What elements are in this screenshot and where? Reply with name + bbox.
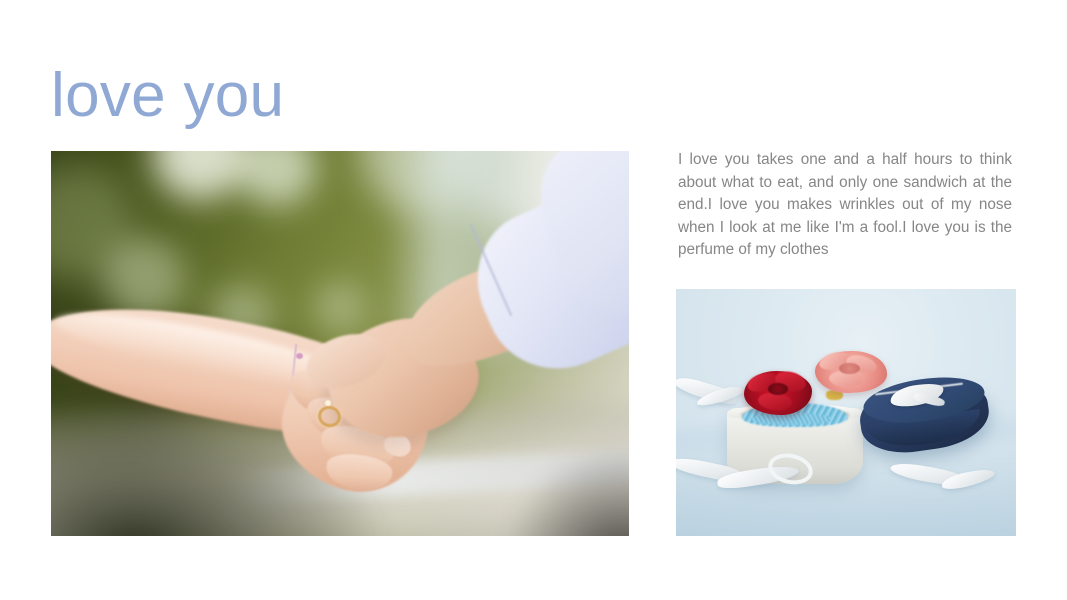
hands-photo-stage (51, 151, 629, 536)
page-title: love you (51, 63, 284, 130)
blue-shredded-paper-filler (751, 413, 833, 425)
slide-canvas: love you (0, 0, 1067, 600)
couple-holding-hands-photo[interactable] (51, 151, 629, 536)
ring-stone (325, 400, 331, 406)
heart-gift-box-roses-photo[interactable] (676, 289, 1016, 536)
dark-edge-right (502, 444, 629, 536)
body-paragraph: I love you takes one and a half hours to… (678, 149, 1012, 262)
